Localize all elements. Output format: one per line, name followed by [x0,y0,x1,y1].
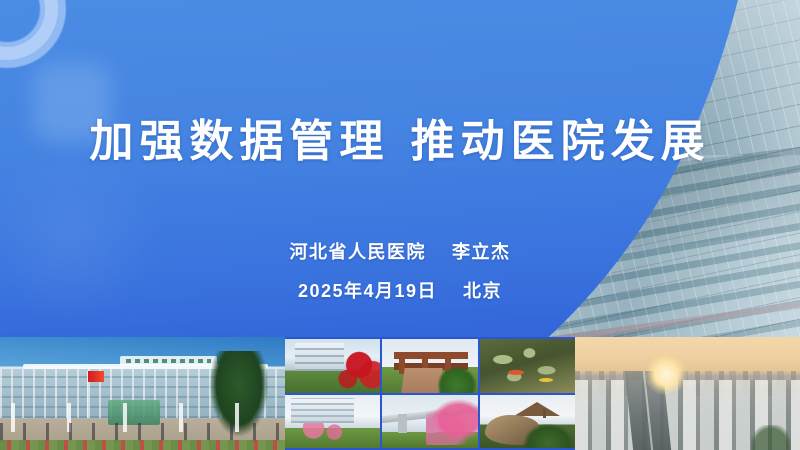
photo-strip [0,337,800,450]
photo-city-skyline-sunset [575,337,800,450]
photo-hospital-main-building [0,337,285,450]
photo-garden-pergola [382,339,477,393]
ring-inner-decoration-icon [0,0,58,60]
photo-building-with-red-flowers [285,339,380,393]
photo-lotus-pond-koi [480,339,575,393]
presentation-title-slide: 加强数据管理 推动医院发展 河北省人民医院 李立杰 2025年4月19日 北京 [0,0,800,450]
subtitle-date-location: 2025年4月19日 北京 [0,282,800,300]
photo-overpass-with-blossom [382,395,477,449]
photo-building-with-pink-blossom [285,395,380,449]
subtitle-affiliation-presenter: 河北省人民医院 李立杰 [0,243,800,261]
subtitle-block: 河北省人民医院 李立杰 2025年4月19日 北京 [0,243,800,300]
page-title: 加强数据管理 推动医院发展 [0,118,800,166]
photo-grid [285,337,575,450]
photo-rockery-pavilion [480,395,575,449]
